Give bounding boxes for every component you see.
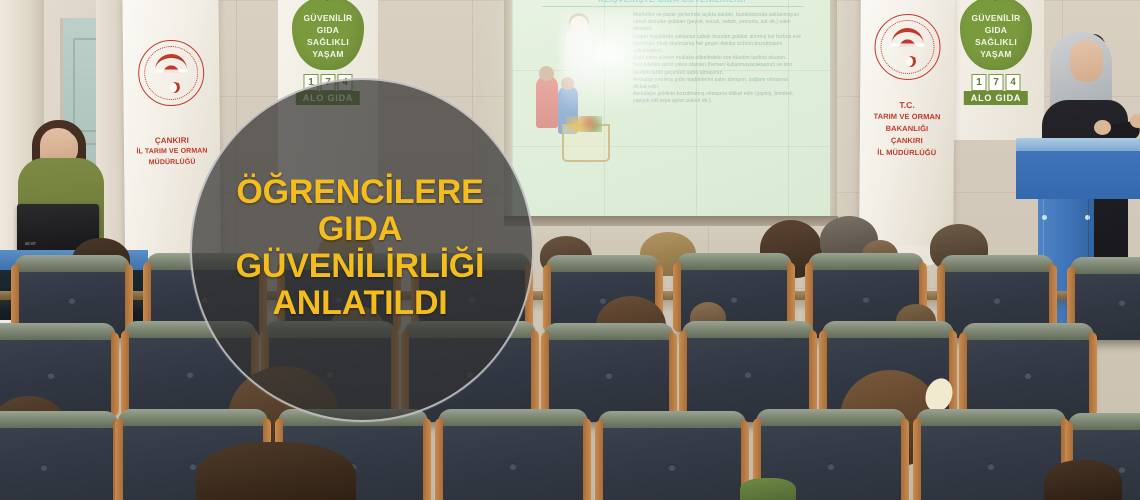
audience-seating	[0, 246, 1140, 500]
podium-front-panel	[1016, 151, 1140, 199]
star-icon	[176, 83, 179, 86]
ministry-emblem-icon	[874, 14, 940, 80]
star-icon	[913, 57, 916, 60]
apple-logo-text: GÜVENİLİR GIDA SAĞLIKLI YAŞAM	[292, 12, 364, 60]
hotline-digit: 1	[972, 74, 987, 91]
seat	[686, 328, 810, 422]
speaker-face	[1070, 40, 1103, 82]
emblem-wave-icon	[892, 28, 924, 46]
seat	[0, 418, 114, 500]
banner-line: ÇANKIRI	[860, 136, 954, 147]
banner-line: T.C.	[860, 100, 954, 111]
headline-line: ÖĞRENCİLERE	[236, 174, 483, 211]
hotline-digit: 4	[1006, 74, 1021, 91]
projector-hotspot	[560, 10, 700, 120]
podium-fastener	[1042, 215, 1047, 220]
audience-head-bottom	[1044, 460, 1122, 500]
hotline-label: ALO GIDA	[964, 91, 1028, 105]
headline-line: GÜVENİLİRLİĞİ	[236, 248, 485, 285]
apple-line: GÜVENİLİR	[292, 12, 364, 24]
news-photo-banner: ALIŞVERİŞTE GIDA GÜVENİLİRLİĞİ Marketler…	[0, 0, 1140, 500]
crescent-icon	[902, 56, 913, 67]
seat	[602, 418, 742, 500]
apple-logo-icon: GÜVENİLİR GIDA SAĞLIKLI YAŞAM	[960, 0, 1032, 70]
seat	[442, 416, 584, 500]
apple-logo-text: GÜVENİLİR GIDA SAĞLIKLI YAŞAM	[960, 12, 1032, 60]
banner-line: BAKANLIĞI	[860, 124, 954, 135]
crescent-icon	[166, 82, 177, 93]
banner-line: TARIM VE ORMAN	[860, 112, 954, 123]
apple-logo-icon: GÜVENİLİR GIDA SAĞLIKLI YAŞAM	[292, 0, 364, 70]
slide-title-rule	[542, 6, 804, 7]
hotline-digits: 1 7 4	[972, 74, 1021, 91]
slide-title: ALIŞVERİŞTE GIDA GÜVENİLİRLİĞİ	[546, 0, 798, 4]
apple-line: YAŞAM	[960, 48, 1032, 60]
banner-line: İL MÜDÜRLÜĞÜ	[860, 148, 954, 159]
emblem-wave-fill-icon	[154, 55, 188, 72]
apple-line: SAĞLIKLI	[292, 36, 364, 48]
apple-banner-right: GÜVENİLİR GIDA SAĞLIKLI YAŞAM 1 7 4 ALO …	[948, 0, 1044, 140]
apple-line: GIDA	[292, 24, 364, 36]
headline-line: GIDA	[318, 211, 402, 248]
apple-line: GIDA	[960, 24, 1032, 36]
apple-line: GÜVENİLİR	[960, 12, 1032, 24]
speaker-hand-left	[1094, 120, 1111, 135]
emblem-wave-icon	[155, 54, 187, 72]
audience-head-bottom	[196, 442, 356, 500]
hotline-digit: 7	[989, 74, 1004, 91]
emblem-wave-fill-icon	[891, 29, 925, 46]
audience-shoulder-green	[740, 478, 796, 500]
illustration-figure-red-head	[539, 66, 554, 81]
podium-fastener	[1085, 215, 1090, 220]
ministry-banner-right: T.C. TARIM VE ORMAN BAKANLIĞI ÇANKIRI İL…	[859, 0, 955, 246]
podium-top	[1016, 138, 1140, 151]
apple-line: YAŞAM	[292, 48, 364, 60]
headline: ÖĞRENCİLERE GIDA GÜVENİLİRLİĞİ ANLATILDI	[190, 78, 530, 418]
seat	[920, 416, 1062, 500]
illustration-figure-red	[536, 76, 558, 128]
apple-line: SAĞLIKLI	[960, 36, 1032, 48]
speaker-hand-right	[1130, 114, 1140, 128]
headline-line: ANLATILDI	[272, 285, 447, 322]
